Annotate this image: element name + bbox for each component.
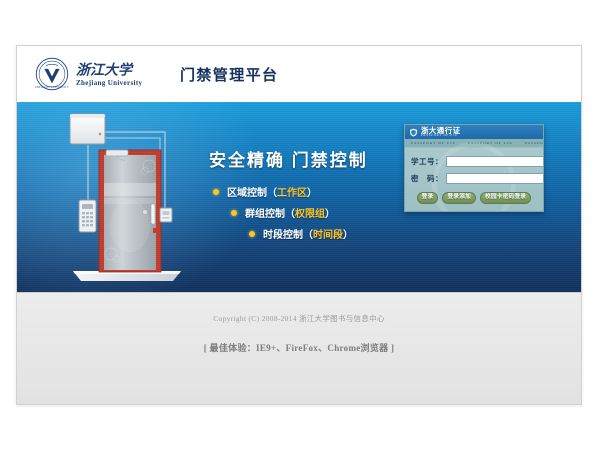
bullet-dot-icon — [249, 231, 255, 237]
svg-text:浙江大学: 浙江大学 — [76, 62, 134, 79]
bullet-highlight: 权限组 — [295, 205, 325, 220]
zju-seal-icon: ZHEJIANG UNIVERSITY — [35, 57, 69, 91]
bullet-tail: ） — [325, 205, 335, 220]
logo-chinese-calligraphy: 浙江大学 — [76, 61, 154, 78]
bullet-dot-icon — [231, 210, 237, 216]
watermark-text: PASSPORT OF ZJU — [519, 141, 543, 145]
list-item: 区域控制（ 工作区 ） — [213, 184, 353, 199]
hero-banner: 安全精确 门禁控制 区域控制（ 工作区 ） 群组控制（ 权限组 ） 时段控制（ … — [17, 102, 581, 292]
username-row: 学工号： — [411, 156, 537, 167]
login-form: 学工号： 密 码： 登录 登录添加 校园卡密码登录 — [405, 148, 543, 211]
page-title: 门禁管理平台 — [180, 64, 278, 85]
username-label: 学工号： — [411, 156, 446, 167]
password-row: 密 码： — [411, 173, 537, 184]
site-header: ZHEJIANG UNIVERSITY 浙江大学 Zhejiang Univer… — [17, 46, 581, 102]
login-panel: 浙大通行证 PASSPORT OF ZJU PASSPORT OF ZJU PA… — [404, 124, 544, 212]
username-input[interactable] — [446, 156, 544, 167]
bullet-label: 群组控制（ — [245, 205, 295, 220]
university-logo[interactable]: ZHEJIANG UNIVERSITY 浙江大学 Zhejiang Univer… — [35, 57, 154, 91]
browser-compatibility-text: [ 最佳体验：IE9+、FireFox、Chrome浏览器 ] — [17, 341, 581, 354]
site-footer: Copyright (C) 2008-2014 浙江大学图书与信息中心 [ 最佳… — [17, 292, 581, 404]
feature-bullet-list: 区域控制（ 工作区 ） 群组控制（ 权限组 ） 时段控制（ 时间段 ） — [213, 184, 353, 247]
bullet-highlight: 工作区 — [277, 184, 307, 199]
bullet-label: 时段控制（ — [263, 226, 313, 241]
list-item: 时段控制（ 时间段 ） — [249, 226, 353, 241]
login-add-button[interactable]: 登录添加 — [442, 192, 476, 204]
banner-headline: 安全精确 门禁控制 — [209, 146, 368, 171]
bullet-label: 区域控制（ — [227, 184, 277, 199]
bullet-highlight: 时间段 — [313, 226, 343, 241]
logo-english-name: Zhejiang University — [76, 79, 154, 87]
login-button-row: 登录 登录添加 校园卡密码登录 — [411, 192, 537, 204]
site-card: ZHEJIANG UNIVERSITY 浙江大学 Zhejiang Univer… — [16, 45, 582, 405]
bullet-tail: ） — [307, 184, 317, 199]
watermark-text: PASSPORT OF ZJU — [405, 141, 462, 145]
password-input[interactable] — [446, 173, 544, 184]
campus-card-login-button[interactable]: 校园卡密码登录 — [480, 192, 531, 204]
login-button[interactable]: 登录 — [417, 192, 439, 204]
svg-text:ZHEJIANG UNIVERSITY: ZHEJIANG UNIVERSITY — [35, 86, 69, 89]
copyright-text: Copyright (C) 2008-2014 浙江大学图书与信息中心 — [17, 313, 581, 324]
password-label: 密 码： — [411, 173, 446, 184]
access-control-illustration — [61, 108, 193, 290]
logo-text: 浙江大学 Zhejiang University — [76, 61, 154, 87]
login-panel-header: 浙大通行证 PASSPORT OF ZJU — [405, 125, 543, 139]
login-panel-subtitle: PASSPORT OF ZJU — [421, 134, 461, 137]
list-item: 群组控制（ 权限组 ） — [231, 205, 353, 220]
shield-icon — [409, 128, 418, 137]
bullet-dot-icon — [213, 189, 219, 195]
bullet-tail: ） — [343, 226, 353, 241]
